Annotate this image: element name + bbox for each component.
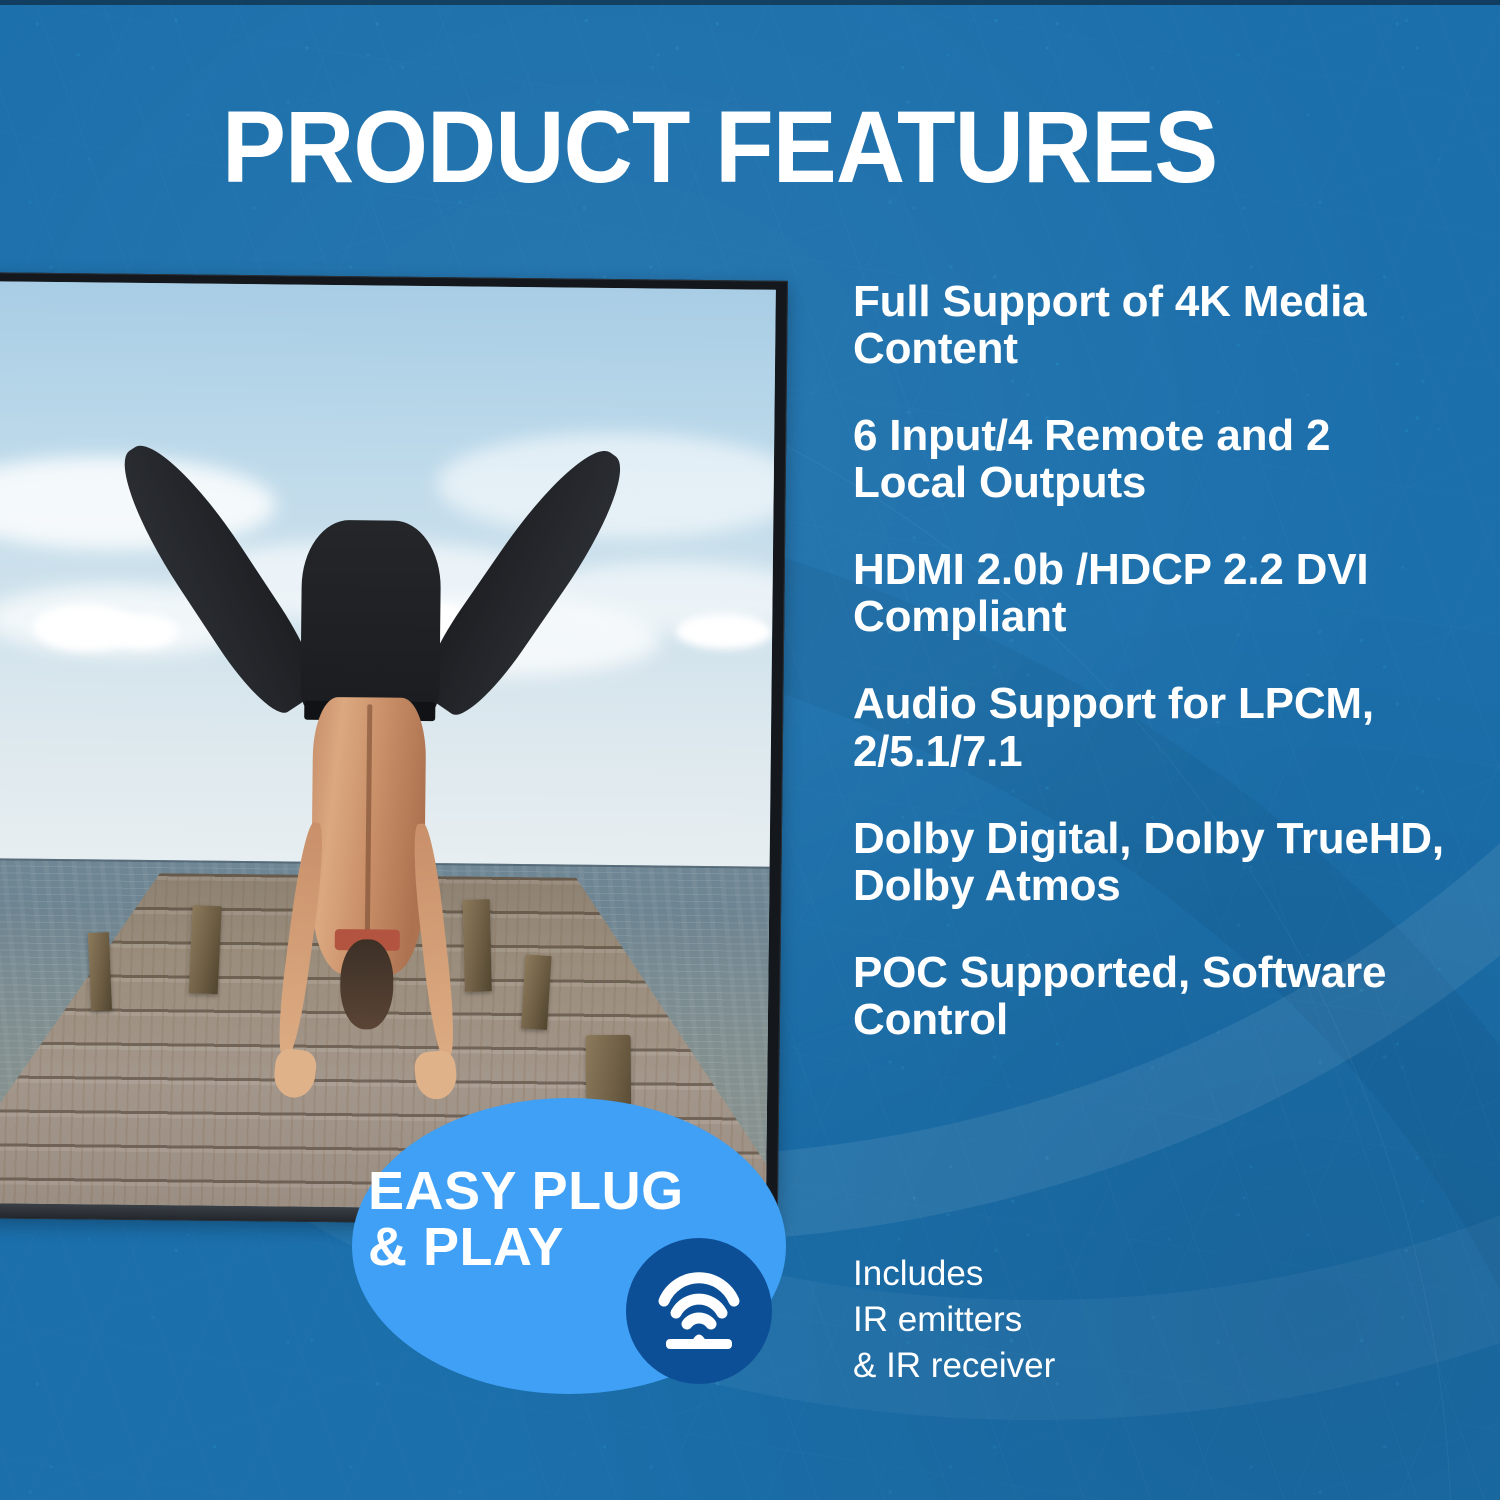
includes-line1: Includes [853, 1251, 1273, 1297]
photo-pier-post [189, 905, 222, 994]
includes-note: Includes IR emitters & IR receiver [853, 1251, 1273, 1390]
product-features-graphic: PRODUCT FEATURES [0, 0, 1500, 1500]
feature-item: Audio Support for LPCM, 2/5.1/7.1 [853, 680, 1453, 774]
wireless-signal-icon [656, 1271, 742, 1351]
product-photo [0, 281, 776, 1212]
feature-list: Full Support of 4K Media Content 6 Input… [853, 278, 1453, 1083]
feature-item: Full Support of 4K Media Content [853, 278, 1453, 372]
feature-item: 6 Input/4 Remote and 2 Local Outputs [853, 412, 1453, 506]
product-photo-frame [0, 272, 788, 1227]
feature-item: POC Supported, Software Control [853, 949, 1453, 1043]
photo-man-pants [261, 392, 481, 712]
feature-item: HDMI 2.0b /HDCP 2.2 DVI Compliant [853, 546, 1453, 640]
photo-cloud-lump [105, 614, 178, 650]
photo-pier-post [521, 955, 551, 1030]
includes-line3: & IR receiver [853, 1343, 1273, 1389]
feature-item: Dolby Digital, Dolby TrueHD, Dolby Atmos [853, 815, 1453, 909]
wireless-signal-icon-circle [626, 1238, 772, 1384]
photo-handstand-man [257, 392, 481, 1086]
page-title: PRODUCT FEATURES [222, 96, 1312, 198]
photo-man-head [340, 939, 393, 1029]
top-edge-line [0, 0, 1500, 5]
photo-pier-post [88, 932, 112, 1011]
badge-label-line1: EASY PLUG [368, 1163, 728, 1219]
photo-man-hips [300, 520, 441, 719]
includes-line2: IR emitters [853, 1297, 1273, 1343]
photo-cloud-lump [676, 614, 773, 650]
